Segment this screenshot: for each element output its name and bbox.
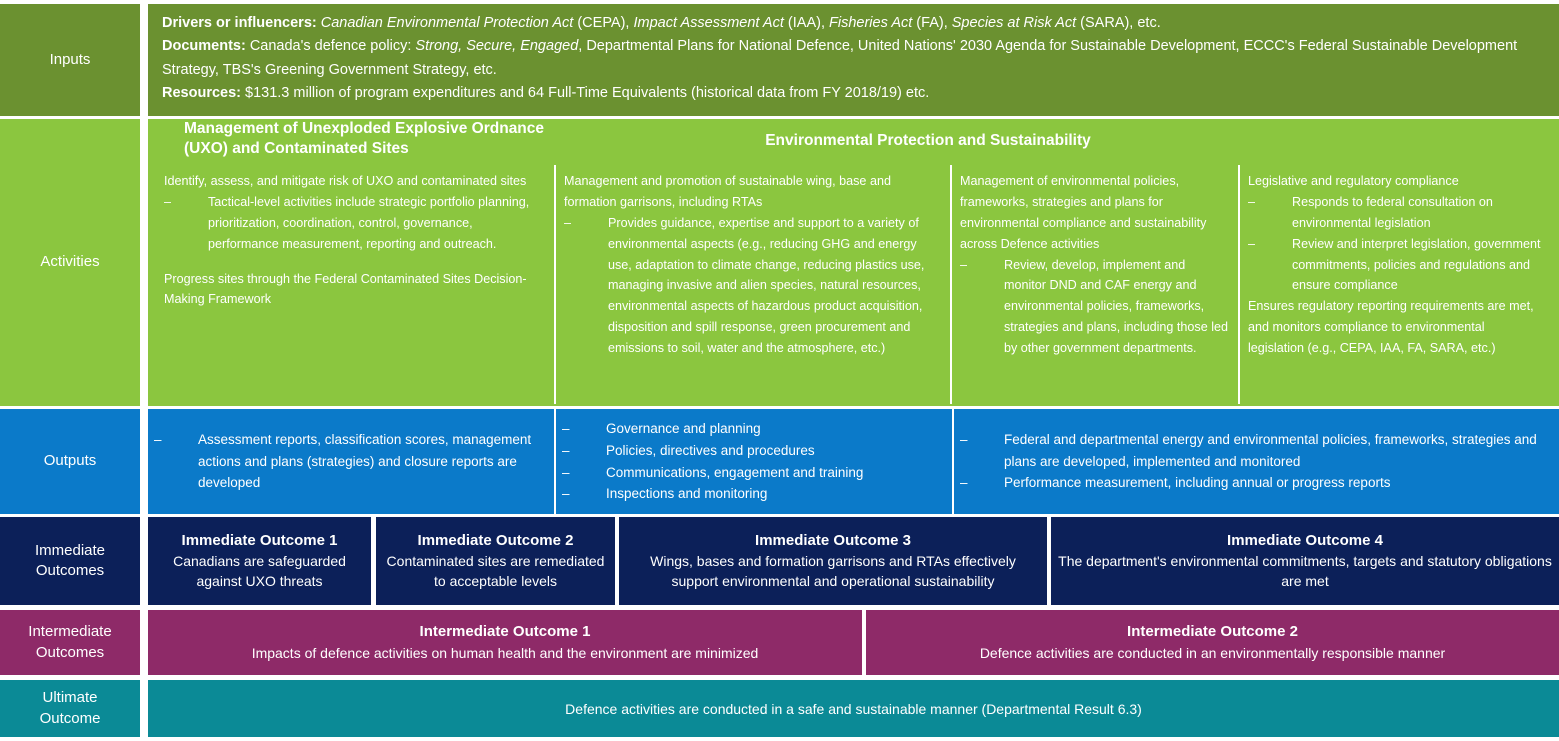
dash-marker: –	[960, 255, 1004, 359]
logic-model-diagram: Inputs Drivers or influencers: Canadian …	[0, 0, 1559, 741]
stage-label-ultimate-outcome: Ultimate Outcome	[0, 680, 140, 737]
ultimate-outcome-text: Defence activities are conducted in a sa…	[565, 701, 1142, 717]
dash-marker: –	[564, 213, 608, 359]
outputs-item-text: Federal and departmental energy and envi…	[1004, 429, 1553, 473]
activities-compliance-subitem-1: – Responds to federal consultation on en…	[1248, 192, 1543, 234]
activities-column-policies: Management of environmental policies, fr…	[950, 165, 1238, 404]
intermediate-outcome-1-title: Intermediate Outcome 1	[420, 621, 591, 644]
inputs-act-fa: Fisheries Act	[829, 15, 912, 31]
dash-marker: –	[562, 462, 606, 484]
stage-label-outputs: Outputs	[0, 409, 140, 514]
outputs-item: – Federal and departmental energy and en…	[960, 429, 1553, 473]
outputs-item-text: Performance measurement, including annua…	[1004, 472, 1553, 494]
stage-label-activities: Activities	[0, 119, 140, 406]
immediate-outcome-1-title: Immediate Outcome 1	[182, 530, 338, 551]
outputs-item: – Policies, directives and procedures	[562, 440, 946, 462]
outputs-item: – Inspections and monitoring	[562, 483, 946, 505]
activities-uxo-outro: Progress sites through the Federal Conta…	[164, 269, 546, 311]
outputs-column-governance: – Governance and planning – Policies, di…	[554, 409, 952, 514]
activities-uxo-intro: Identify, assess, and mitigate risk of U…	[164, 171, 546, 192]
immediate-outcome-2-text: Contaminated sites are remediated to acc…	[382, 552, 609, 592]
activities-column-uxo: Identify, assess, and mitigate risk of U…	[156, 165, 554, 404]
activities-column-garrisons: Management and promotion of sustainable …	[554, 165, 950, 404]
activities-columns: Identify, assess, and mitigate risk of U…	[148, 165, 1559, 406]
activities-header-uxo: Management of Unexploded Explosive Ordna…	[184, 119, 584, 159]
outputs-item-text: Communications, engagement and training	[606, 462, 946, 484]
stage-label-inputs-text: Inputs	[50, 50, 91, 70]
stage-label-ultimate-wrap: Ultimate Outcome	[40, 688, 101, 729]
inputs-sse-policy: Strong, Secure, Engaged	[415, 38, 578, 54]
spacer	[164, 255, 546, 269]
activities-policies-intro: Management of environmental policies, fr…	[960, 171, 1230, 255]
dash-marker: –	[164, 192, 208, 255]
stage-label-ultimate-line1: Ultimate	[40, 688, 101, 708]
stage-label-intermediate-line2: Outcomes	[28, 643, 111, 663]
inputs-act-iaa: Impact Assessment Act	[633, 15, 783, 31]
stage-label-immediate-outcomes: Immediate Outcomes	[0, 517, 140, 605]
immediate-outcome-1: Immediate Outcome 1 Canadians are safegu…	[148, 517, 371, 605]
stage-label-inputs: Inputs	[0, 4, 140, 116]
stage-label-intermediate-wrap: Intermediate Outcomes	[28, 622, 111, 663]
inputs-documents-line: Documents: Canada's defence policy: Stro…	[162, 35, 1545, 82]
outputs-item: – Governance and planning	[562, 418, 946, 440]
inputs-act-sara: Species at Risk Act	[952, 15, 1076, 31]
stage-label-immediate-line2: Outcomes	[35, 561, 105, 581]
stage-label-outputs-text: Outputs	[44, 451, 97, 471]
inputs-sara-abbrev: (SARA), etc.	[1076, 15, 1161, 31]
outputs-column-uxo: – Assessment reports, classification sco…	[148, 409, 554, 514]
ultimate-outcome-content: Defence activities are conducted in a sa…	[148, 680, 1559, 737]
immediate-outcomes-content: Immediate Outcome 1 Canadians are safegu…	[148, 517, 1559, 605]
inputs-fa-abbrev: (FA),	[912, 15, 951, 31]
stage-label-immediate-wrap: Immediate Outcomes	[35, 541, 105, 582]
activities-compliance-sub-text-2: Review and interpret legislation, govern…	[1292, 234, 1543, 297]
outputs-column-policies: – Federal and departmental energy and en…	[952, 409, 1559, 514]
outputs-content: – Assessment reports, classification sco…	[148, 409, 1559, 514]
activities-garrisons-sub-text: Provides guidance, expertise and support…	[608, 213, 942, 359]
outputs-item-text: Governance and planning	[606, 418, 946, 440]
activities-content: Management of Unexploded Explosive Ordna…	[148, 119, 1559, 406]
outputs-item-text: Assessment reports, classification score…	[198, 429, 548, 495]
dash-marker: –	[562, 418, 606, 440]
inputs-cepa-abbrev: (CEPA),	[573, 15, 633, 31]
stage-label-intermediate-outcomes: Intermediate Outcomes	[0, 610, 140, 675]
inputs-drivers-label: Drivers or influencers:	[162, 15, 317, 31]
immediate-outcome-2: Immediate Outcome 2 Contaminated sites a…	[376, 517, 615, 605]
stage-label-ultimate-line2: Outcome	[40, 709, 101, 729]
immediate-outcome-4-title: Immediate Outcome 4	[1227, 530, 1383, 551]
inputs-documents-label: Documents:	[162, 38, 246, 54]
dash-marker: –	[154, 429, 198, 495]
activities-compliance-intro: Legislative and regulatory compliance	[1248, 171, 1543, 192]
inputs-act-cepa: Canadian Environmental Protection Act	[321, 15, 574, 31]
immediate-outcome-3: Immediate Outcome 3 Wings, bases and for…	[619, 517, 1047, 605]
outputs-item: – Assessment reports, classification sco…	[154, 429, 548, 495]
activities-garrisons-subitem: – Provides guidance, expertise and suppo…	[564, 213, 942, 359]
activities-policies-subitem: – Review, develop, implement and monitor…	[960, 255, 1230, 359]
inputs-iaa-abbrev: (IAA),	[784, 15, 829, 31]
stage-label-intermediate-line1: Intermediate	[28, 622, 111, 642]
immediate-outcome-4-text: The department's environmental commitmen…	[1057, 552, 1553, 592]
immediate-outcome-3-text: Wings, bases and formation garrisons and…	[625, 552, 1041, 592]
immediate-outcome-1-text: Canadians are safeguarded against UXO th…	[154, 552, 365, 592]
immediate-outcome-4: Immediate Outcome 4 The department's env…	[1051, 517, 1559, 605]
dash-marker: –	[1248, 192, 1292, 234]
inputs-content: Drivers or influencers: Canadian Environ…	[148, 4, 1559, 116]
activities-garrisons-intro: Management and promotion of sustainable …	[564, 171, 942, 213]
intermediate-outcome-2: Intermediate Outcome 2 Defence activitie…	[866, 610, 1559, 675]
dash-marker: –	[1248, 234, 1292, 297]
outputs-item-text: Policies, directives and procedures	[606, 440, 946, 462]
immediate-outcome-3-title: Immediate Outcome 3	[755, 530, 911, 551]
dash-marker: –	[960, 429, 1004, 473]
intermediate-outcome-1: Intermediate Outcome 1 Impacts of defenc…	[148, 610, 862, 675]
inputs-drivers-line: Drivers or influencers: Canadian Environ…	[162, 12, 1545, 35]
outputs-item: – Performance measurement, including ann…	[960, 472, 1553, 494]
activities-header-eps: Environmental Protection and Sustainabil…	[578, 119, 1278, 151]
activities-compliance-sub-text-1: Responds to federal consultation on envi…	[1292, 192, 1543, 234]
activities-uxo-sub-text: Tactical-level activities include strate…	[208, 192, 546, 255]
activities-compliance-subitem-2: – Review and interpret legislation, gove…	[1248, 234, 1543, 297]
activities-uxo-subitem: – Tactical-level activities include stra…	[164, 192, 546, 255]
inputs-documents-pre: Canada's defence policy:	[246, 38, 416, 54]
dash-marker: –	[562, 483, 606, 505]
activities-policies-sub-text: Review, develop, implement and monitor D…	[1004, 255, 1230, 359]
dash-marker: –	[960, 472, 1004, 494]
intermediate-outcome-2-text: Defence activities are conducted in an e…	[980, 643, 1445, 664]
inputs-resources-line: Resources: $131.3 million of program exp…	[162, 82, 1545, 105]
dash-marker: –	[562, 440, 606, 462]
intermediate-outcome-2-title: Intermediate Outcome 2	[1127, 621, 1298, 644]
immediate-outcome-2-title: Immediate Outcome 2	[418, 530, 574, 551]
intermediate-outcomes-content: Intermediate Outcome 1 Impacts of defenc…	[148, 610, 1559, 675]
activities-headers: Management of Unexploded Explosive Ordna…	[148, 119, 1559, 165]
inputs-resources-text: $131.3 million of program expenditures a…	[241, 85, 929, 101]
stage-label-activities-text: Activities	[40, 252, 99, 272]
inputs-resources-label: Resources:	[162, 85, 241, 101]
outputs-item-text: Inspections and monitoring	[606, 483, 946, 505]
activities-compliance-outro: Ensures regulatory reporting requirement…	[1248, 296, 1543, 359]
stage-label-immediate-line1: Immediate	[35, 541, 105, 561]
activities-column-compliance: Legislative and regulatory compliance – …	[1238, 165, 1551, 404]
intermediate-outcome-1-text: Impacts of defence activities on human h…	[252, 643, 759, 664]
outputs-item: – Communications, engagement and trainin…	[562, 462, 946, 484]
